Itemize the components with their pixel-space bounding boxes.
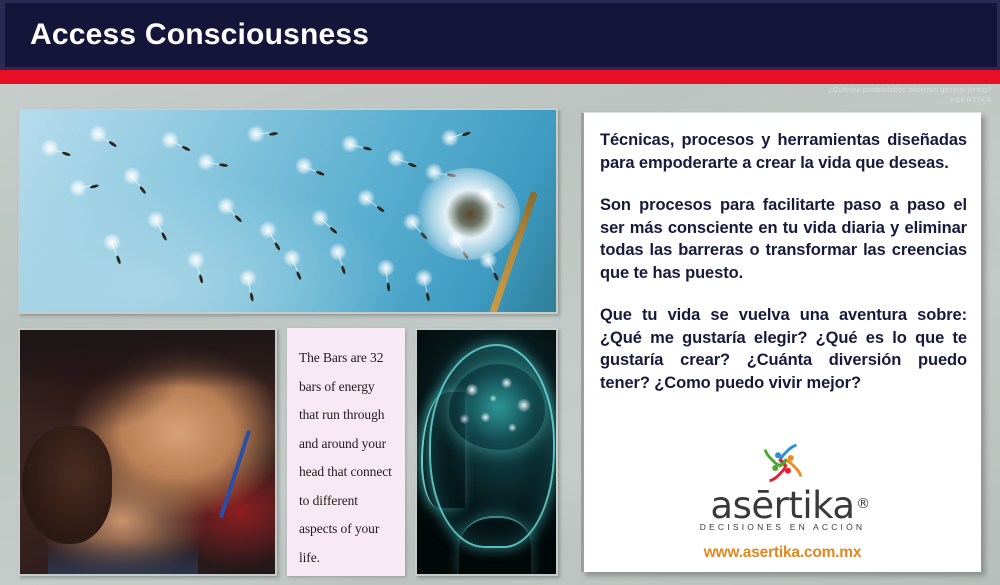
registered-trademark-icon: ® bbox=[856, 485, 870, 523]
dandelion-seeds-photo bbox=[18, 108, 558, 314]
content-paragraph-3: Que tu vida se vuelva una aventura sobre… bbox=[600, 304, 967, 394]
glowing-brain-photo bbox=[415, 328, 558, 576]
asertika-pinwheel-icon bbox=[754, 441, 812, 485]
content-paragraph-2: Son procesos para facilitarte paso a pas… bbox=[600, 194, 967, 284]
session-hair bbox=[22, 426, 112, 544]
asertika-wordmark-text: asērtika bbox=[710, 484, 854, 527]
watermark-line-2: ASERTIKA bbox=[732, 96, 992, 106]
session-blue-cord bbox=[219, 430, 251, 519]
content-panel: Técnicas, procesos y herramientas diseña… bbox=[581, 112, 981, 572]
bars-quote-text: The Bars are 32 bars of energy that run … bbox=[299, 344, 395, 572]
asertika-logo: asērtika ® DECISIONES EN ACCIÓN www.aser… bbox=[584, 441, 981, 562]
content-paragraph-1: Técnicas, procesos y herramientas diseña… bbox=[600, 129, 967, 174]
slide-header-bar: Access Consciousness bbox=[0, 0, 1000, 70]
bars-quote-panel: The Bars are 32 bars of energy that run … bbox=[287, 328, 405, 576]
bars-session-photo bbox=[18, 328, 277, 576]
slide-canvas: ¿Cuántas posibilidades podemos generar j… bbox=[0, 0, 1000, 585]
watermark-line-1: ¿Cuántas posibilidades podemos generar j… bbox=[732, 86, 992, 96]
session-background-shade bbox=[20, 330, 275, 388]
brain-neck-outline bbox=[459, 516, 531, 576]
asertika-website-url[interactable]: www.asertika.com.mx bbox=[584, 544, 981, 562]
asertika-wordmark: asērtika ® bbox=[710, 487, 854, 525]
session-foreground-shade bbox=[48, 540, 198, 576]
brain-mass-glow bbox=[449, 364, 545, 450]
background-watermark: ¿Cuántas posibilidades podemos generar j… bbox=[732, 86, 992, 106]
page-title: Access Consciousness bbox=[30, 18, 369, 52]
dandelion-flower-head bbox=[416, 168, 520, 260]
header-accent-stripe bbox=[0, 70, 1000, 84]
